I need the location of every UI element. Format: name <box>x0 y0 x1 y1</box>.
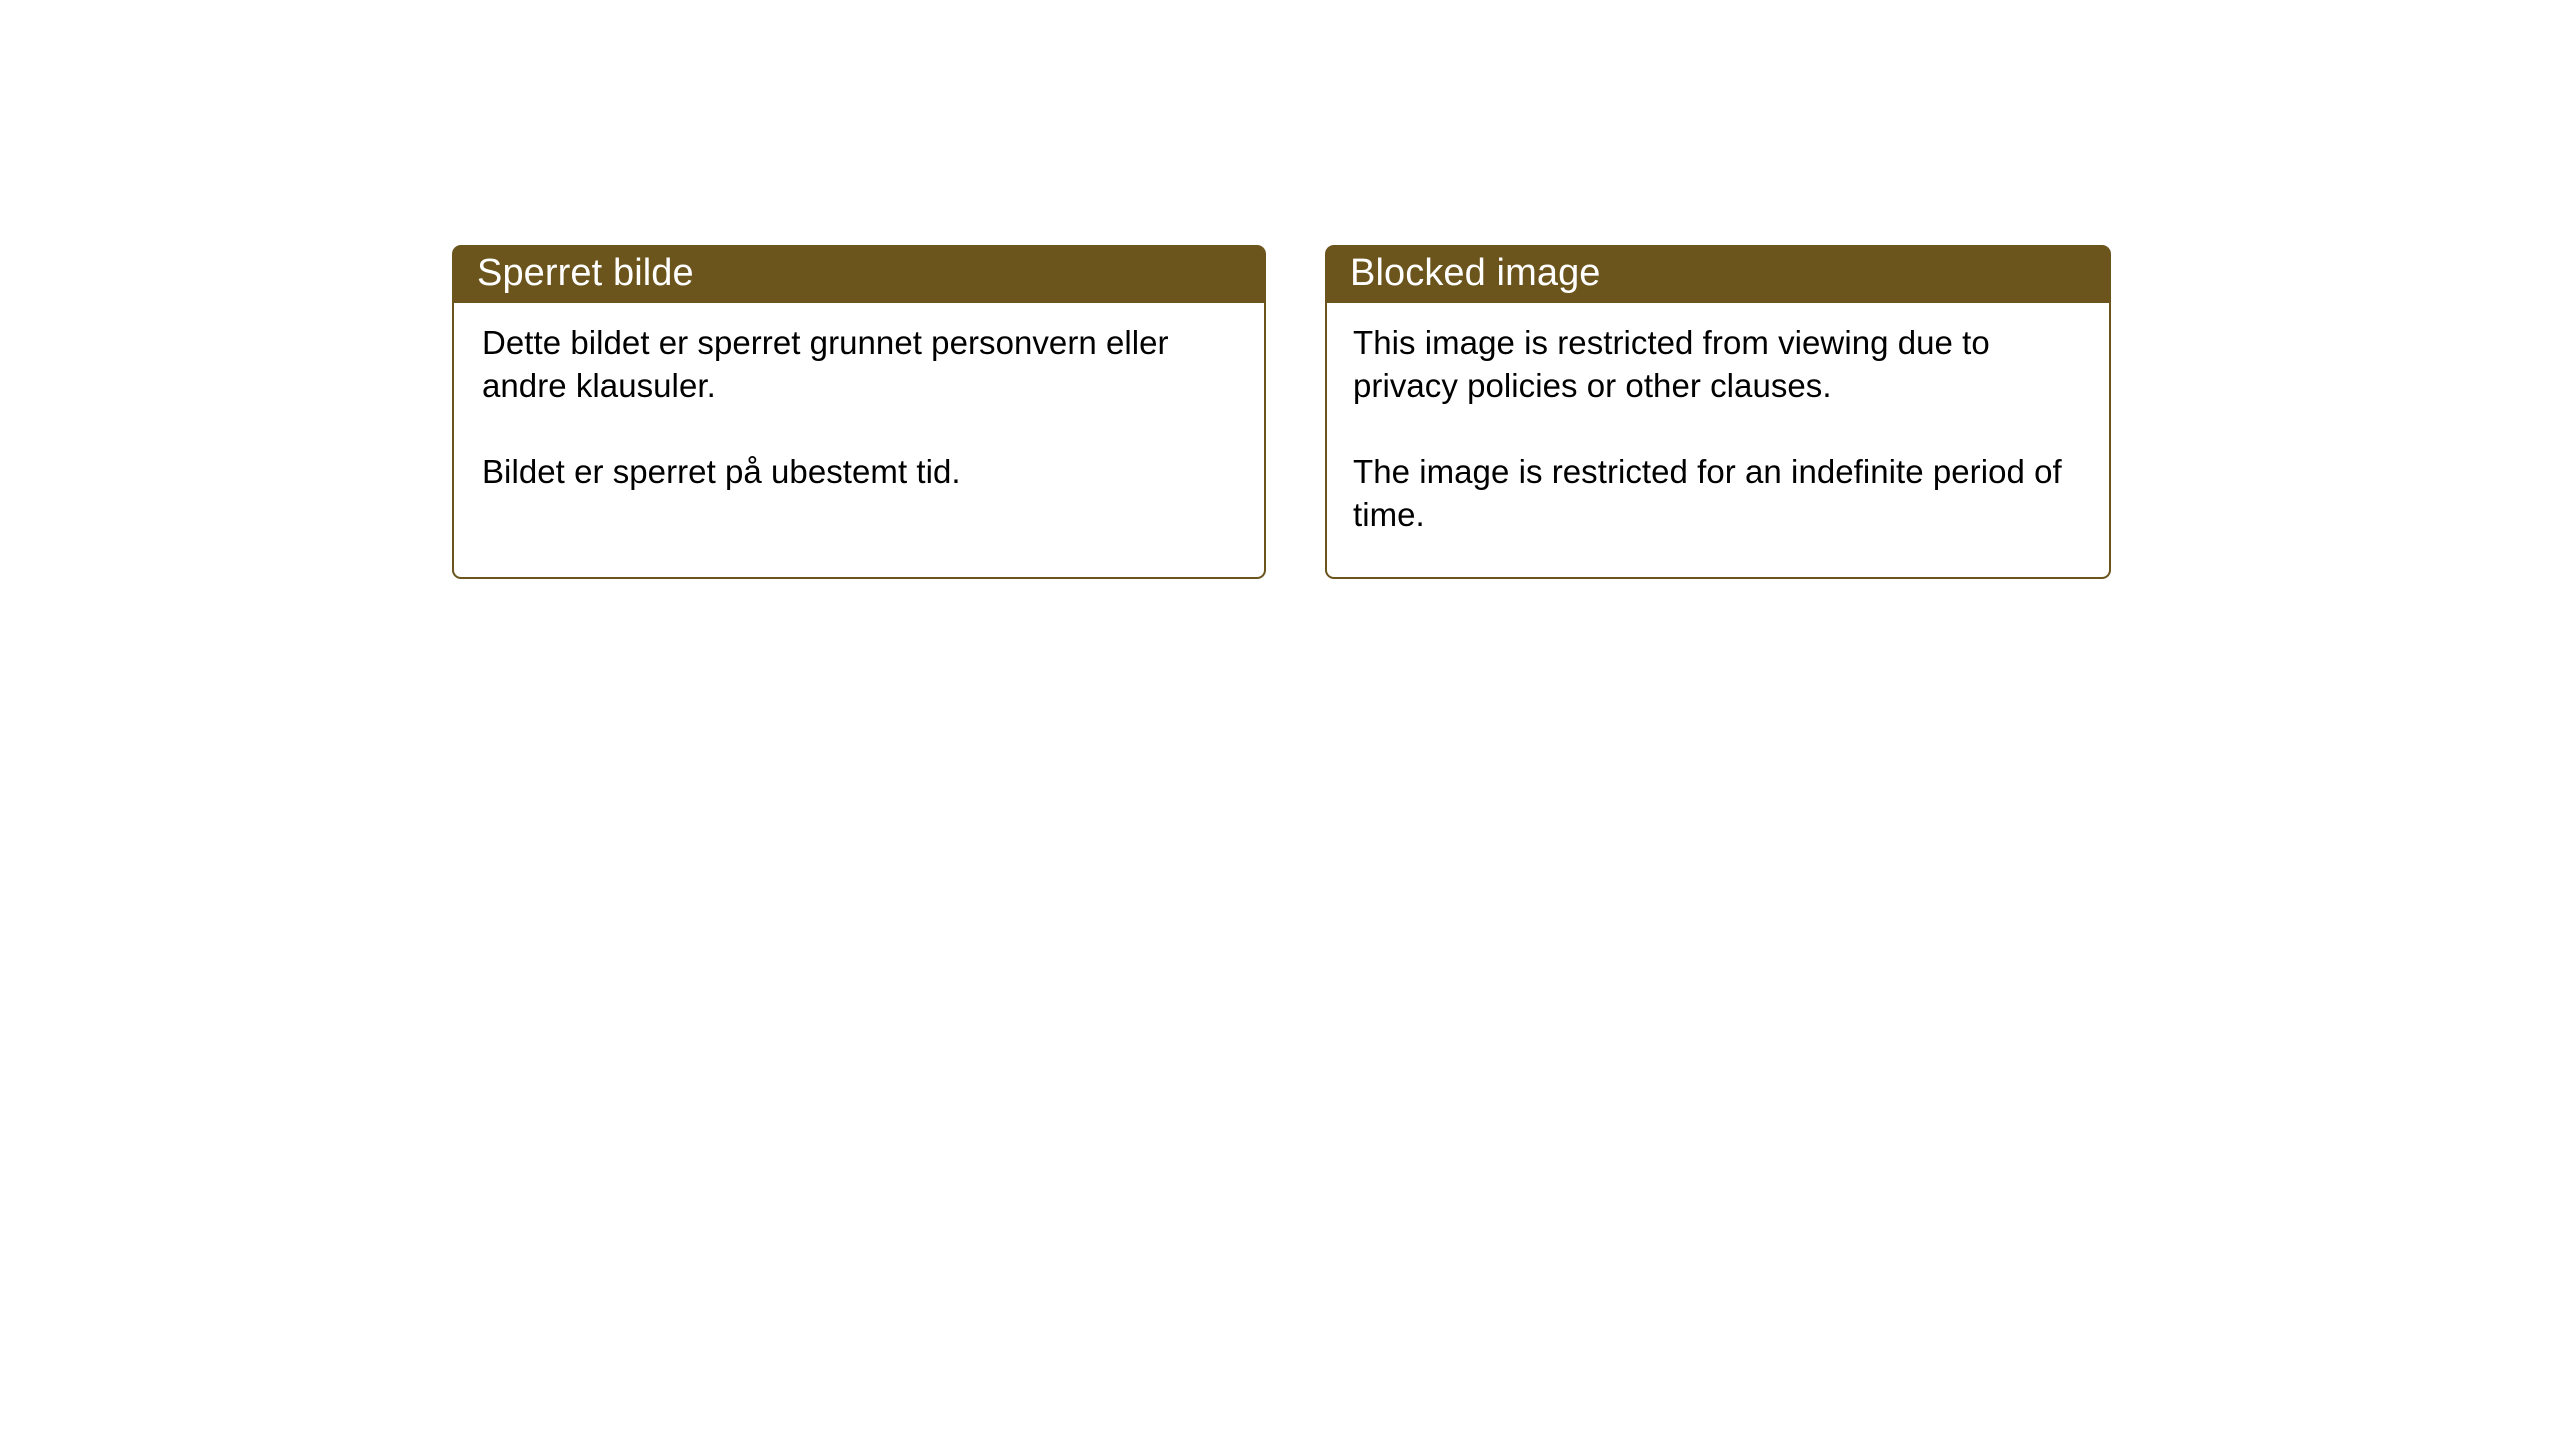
card-header-norwegian: Sperret bilde <box>452 245 1266 303</box>
card-paragraph-english-2: The image is restricted for an indefinit… <box>1353 450 2093 536</box>
card-paragraph-norwegian-2: Bildet er sperret på ubestemt tid. <box>482 450 1244 493</box>
card-paragraph-norwegian-1: Dette bildet er sperret grunnet personve… <box>482 321 1244 407</box>
paragraph-spacer-norwegian <box>482 407 1244 450</box>
paragraph-spacer-english <box>1353 407 2093 450</box>
card-body-norwegian: Dette bildet er sperret grunnet personve… <box>452 303 1266 579</box>
card-title-norwegian: Sperret bilde <box>477 251 694 295</box>
card-paragraph-english-1: This image is restricted from viewing du… <box>1353 321 2093 407</box>
card-body-english: This image is restricted from viewing du… <box>1325 303 2111 579</box>
blocked-image-notice-area: Sperret bilde Dette bildet er sperret gr… <box>0 0 2560 1440</box>
card-title-english: Blocked image <box>1350 251 1601 295</box>
blocked-image-card-english: Blocked image This image is restricted f… <box>1325 245 2111 579</box>
card-header-english: Blocked image <box>1325 245 2111 303</box>
blocked-image-card-norwegian: Sperret bilde Dette bildet er sperret gr… <box>452 245 1266 579</box>
